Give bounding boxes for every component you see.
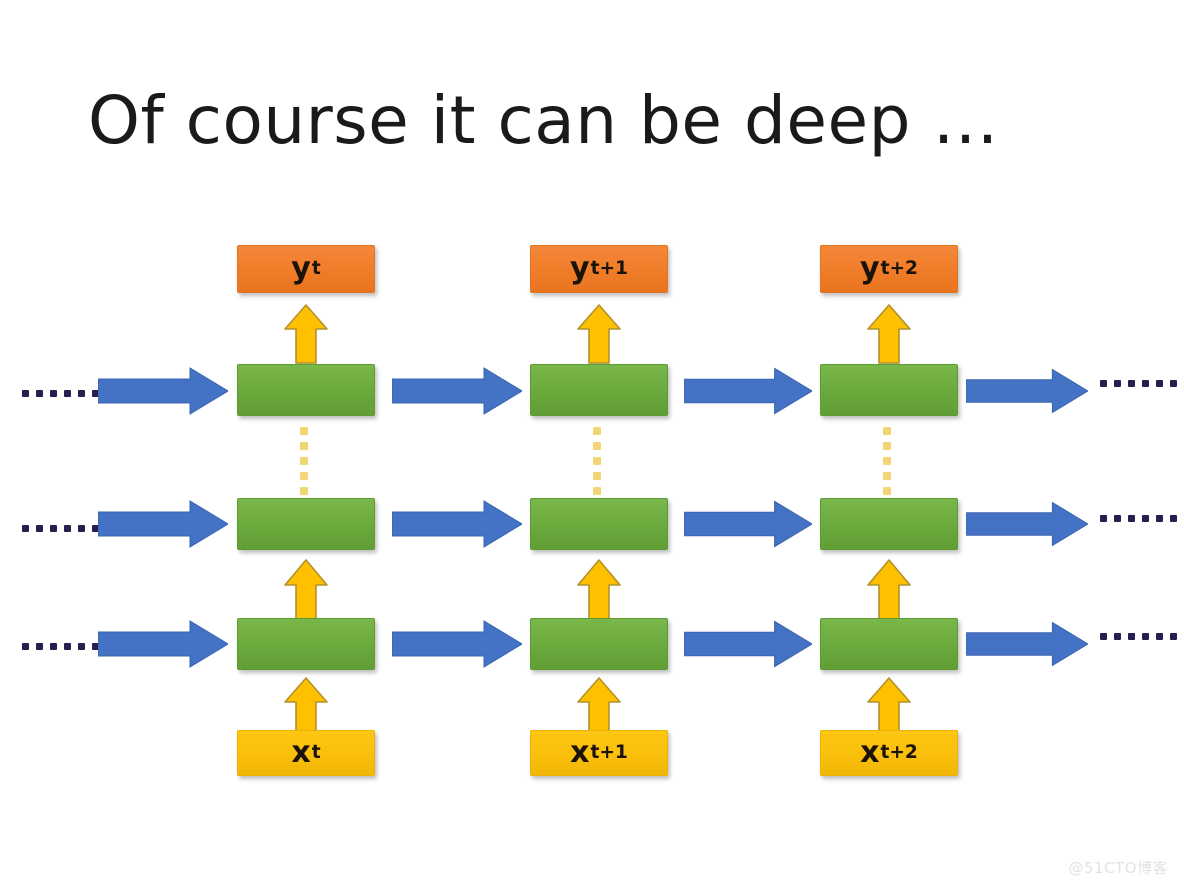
recurrent-arrow-bottom-row-out (966, 619, 1088, 669)
up-arrow-hidden-top-to-output-2 (576, 303, 622, 365)
hidden-cell-bottom-1 (237, 618, 375, 670)
up-arrow-hidden-top-to-output-3 (866, 303, 912, 365)
hidden-cell-top-3 (820, 364, 958, 416)
ellipsis-left-bottom-row (22, 643, 99, 650)
recurrent-arrow-middle-row-1-2 (392, 499, 522, 549)
input-label-base: x (860, 738, 879, 768)
hidden-cell-bottom-3 (820, 618, 958, 670)
hidden-cell-top-1 (237, 364, 375, 416)
up-arrow-hidden-top-to-output-1 (283, 303, 329, 365)
input-box-x-t2: xt+2 (820, 730, 958, 776)
up-arrow-hidden-bottom-to-middle-3 (866, 558, 912, 622)
up-arrow-input-to-hidden-bottom-1 (283, 676, 329, 738)
ellipsis-right-middle-row (1100, 515, 1177, 522)
ellipsis-left-middle-row (22, 525, 99, 532)
up-arrow-hidden-bottom-to-middle-2 (576, 558, 622, 622)
output-label-base: y (860, 254, 880, 284)
recurrent-arrow-top-row-out (966, 366, 1088, 416)
output-box-y-t2: yt+2 (820, 245, 958, 293)
recurrent-arrow-middle-row-out (966, 499, 1088, 549)
hidden-cell-bottom-2 (530, 618, 668, 670)
output-box-y-t: yt (237, 245, 375, 293)
input-label-base: x (291, 738, 310, 768)
ellipsis-right-bottom-row (1100, 633, 1177, 640)
slide-canvas: Of course it can be deep … yt yt+1 yt+2 (0, 0, 1184, 888)
output-label-base: y (570, 254, 590, 284)
recurrent-arrow-middle-row-2-3 (684, 499, 812, 549)
recurrent-arrow-top-row-1-2 (392, 366, 522, 416)
ellipsis-right-top-row (1100, 380, 1177, 387)
ellipsis-left-top-row (22, 390, 99, 397)
hidden-cell-middle-2 (530, 498, 668, 550)
recurrent-arrow-middle-row-in (98, 499, 228, 549)
input-box-x-t: xt (237, 730, 375, 776)
up-arrow-input-to-hidden-bottom-3 (866, 676, 912, 738)
recurrent-arrow-top-row-in (98, 366, 228, 416)
output-label-base: y (291, 254, 311, 284)
recurrent-arrow-bottom-row-2-3 (684, 619, 812, 669)
up-arrow-input-to-hidden-bottom-2 (576, 676, 622, 738)
input-label-base: x (570, 738, 589, 768)
hidden-cell-middle-1 (237, 498, 375, 550)
up-arrow-hidden-bottom-to-middle-1 (283, 558, 329, 622)
watermark-label: @51CTO博客 (1068, 857, 1168, 878)
recurrent-arrow-top-row-2-3 (684, 366, 812, 416)
output-box-y-t1: yt+1 (530, 245, 668, 293)
hidden-cell-top-2 (530, 364, 668, 416)
recurrent-arrow-bottom-row-in (98, 619, 228, 669)
input-box-x-t1: xt+1 (530, 730, 668, 776)
hidden-cell-middle-3 (820, 498, 958, 550)
recurrent-arrow-bottom-row-1-2 (392, 619, 522, 669)
page-title: Of course it can be deep … (88, 88, 999, 154)
